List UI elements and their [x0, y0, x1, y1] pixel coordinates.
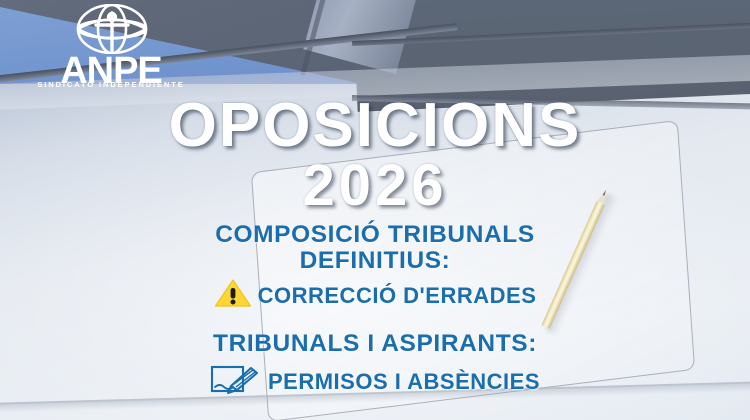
- headline-main: OPOSICIONS: [0, 96, 750, 156]
- message-title-line-2: DEFINITIUS:: [0, 248, 750, 274]
- message-title: COMPOSICIÓ TRIBUNALS DEFINITIUS:: [0, 222, 750, 274]
- message-block-tribunals-aspirants: TRIBUNALS I ASPIRANTS: PERMISOS I ABSÈNC…: [0, 331, 750, 400]
- headline-year: 2026: [0, 156, 750, 215]
- poster: ANPE SINDICATO INDEPENDIENTE OPOSICIONS …: [0, 0, 750, 420]
- anpe-logo-tagline: SINDICATO INDEPENDIENTE: [16, 81, 206, 89]
- message-title: TRIBUNALS I ASPIRANTS:: [0, 331, 750, 357]
- message-block-tribunals-definitius: COMPOSICIÓ TRIBUNALS DEFINITIUS: CORRECC…: [0, 222, 750, 313]
- message-title-line-1: COMPOSICIÓ TRIBUNALS: [0, 222, 750, 248]
- message-list: COMPOSICIÓ TRIBUNALS DEFINITIUS: CORRECC…: [0, 222, 750, 410]
- message-title-line-1: TRIBUNALS I ASPIRANTS:: [0, 331, 750, 357]
- signing-document-icon: [210, 362, 262, 401]
- message-subtitle: PERMISOS I ABSÈNCIES: [268, 370, 540, 393]
- message-subtitle: CORRECCIÓ D'ERRADES: [258, 284, 537, 307]
- message-subtitle-row: PERMISOS I ABSÈNCIES: [0, 362, 750, 401]
- anpe-logo[interactable]: ANPE SINDICATO INDEPENDIENTE: [16, 4, 206, 92]
- headline: OPOSICIONS 2026: [0, 96, 750, 215]
- message-subtitle-row: CORRECCIÓ D'ERRADES: [0, 278, 750, 313]
- warning-triangle-icon: [214, 278, 252, 313]
